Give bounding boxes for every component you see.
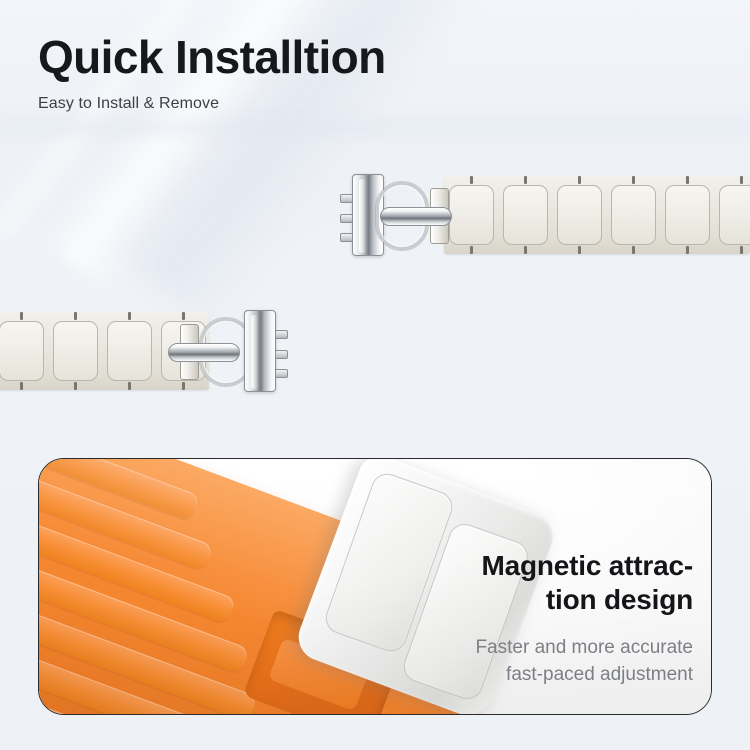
clasp-release-pin (168, 343, 240, 362)
page-title: Quick Installtion (38, 34, 638, 81)
clasp-metal-head (244, 310, 276, 392)
strap-rib (38, 505, 250, 674)
feature-body: Faster and more accurate fast-paced adju… (363, 635, 693, 687)
band-strap-upper (444, 176, 750, 254)
strap-rib (38, 595, 267, 715)
strap-rib (38, 640, 267, 715)
hero-text-block: Quick Installtion Easy to Install & Remo… (38, 34, 638, 113)
band-link (449, 185, 494, 245)
clasp-tab-pin (340, 214, 353, 223)
band-link (719, 185, 750, 245)
clasp-tab-pin (275, 330, 288, 339)
page-subtitle: Easy to Install & Remove (38, 95, 638, 113)
clasp-tab-pin (340, 194, 353, 203)
clasp-tab-pin (275, 350, 288, 359)
feature-heading-line-2: tion design (363, 583, 693, 617)
band-link (611, 185, 656, 245)
feature-panel: Magnetic attrac- tion design Faster and … (38, 458, 712, 715)
strap-rib (38, 458, 214, 571)
product-marketing-page: Quick Installtion Easy to Install & Remo… (0, 0, 750, 750)
watch-band-lower (0, 308, 310, 394)
band-clasp-upper (352, 174, 448, 256)
clasp-release-pin (380, 207, 452, 226)
feature-body-line-1: Faster and more accurate (363, 635, 693, 661)
watch-band-upper (352, 172, 750, 258)
feature-heading: Magnetic attrac- tion design (363, 549, 693, 617)
band-link (0, 321, 44, 381)
clasp-tab-pin (275, 369, 288, 378)
band-link (665, 185, 710, 245)
hero-divider-glow (0, 112, 750, 142)
band-link (557, 185, 602, 245)
strap-rib (38, 458, 200, 521)
band-link (107, 321, 152, 381)
strap-rib (38, 463, 236, 625)
feature-body-line-2: fast-paced adjustment (363, 662, 693, 688)
strap-rib (38, 550, 258, 715)
band-clasp-lower (180, 310, 276, 392)
feature-text-block: Magnetic attrac- tion design Faster and … (363, 549, 693, 688)
feature-heading-line-1: Magnetic attrac- (363, 549, 693, 583)
clasp-tab-pin (340, 233, 353, 242)
band-link (53, 321, 98, 381)
band-link (503, 185, 548, 245)
